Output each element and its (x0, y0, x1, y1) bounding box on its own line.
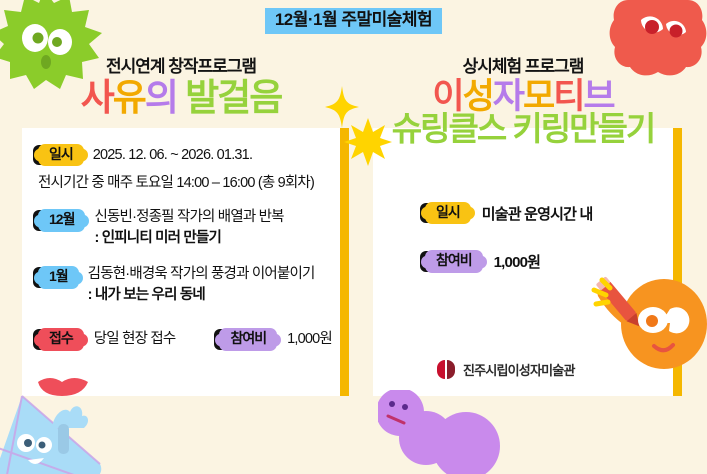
purple-caterpillar-character-icon (378, 390, 518, 474)
apply-badge: 접수 (38, 328, 84, 350)
left-title-char-4: 발걸음 (177, 77, 281, 118)
apply-value: 당일 현장 접수 (94, 330, 176, 350)
session-jan-line2: : 내가 보는 우리 동네 (88, 287, 205, 303)
right-date-badge: 일시 (425, 202, 471, 224)
museum-logo: 진주시립이성자미술관 (437, 360, 575, 379)
blue-triangle-character-icon (0, 388, 110, 474)
left-date-row: 일시 2025. 12. 06. ~ 2026. 01.31. (38, 144, 340, 166)
right-fee-row: 참여비 1,000원 (425, 250, 673, 272)
session-row-december: 12월 신동빈·정종필 작가의 배열과 반복 : 인피니티 미러 만들기 (38, 207, 340, 249)
session-text-january: 김동현·배경욱 작가의 풍경과 이어붙이기 : 내가 보는 우리 동네 (88, 264, 315, 306)
poster-canvas: 12월·1월 주말미술체험 전시연계 창작프로그램 사유의 발걸음 상시체험 프… (0, 0, 707, 474)
left-date-badge: 일시 (38, 144, 84, 166)
top-banner: 12월·1월 주말미술체험 (0, 8, 707, 34)
left-title: 사유의 발걸음 (22, 79, 340, 117)
museum-logo-mark-icon (437, 360, 456, 379)
right-subtitle: 상시체험 프로그램 (373, 58, 673, 77)
left-fee-value: 1,000원 (287, 330, 332, 350)
left-program-card: 일시 2025. 12. 06. ~ 2026. 01.31. 전시기간 중 매… (22, 128, 349, 396)
right-fee-value: 1,000원 (494, 251, 541, 272)
left-program-heading: 전시연계 창작프로그램 사유의 발걸음 (22, 58, 340, 116)
right-title: 이성자모티브 (373, 79, 673, 115)
left-title-char-3: 의 (145, 77, 177, 118)
session-badge-january: 1월 (38, 266, 79, 288)
session-badge-december: 12월 (38, 209, 85, 231)
right-date-row: 일시 미술관 운영시간 내 (425, 202, 673, 224)
session-jan-line1: 김동현·배경욱 작가의 풍경과 이어붙이기 (88, 266, 315, 282)
left-date-note: 전시기간 중 매주 토요일 14:00 – 16:00 (총 9회차) (38, 171, 340, 192)
left-subtitle: 전시연계 창작프로그램 (22, 58, 340, 77)
left-fee-badge: 참여비 (219, 328, 277, 350)
right-program-heading: 상시체험 프로그램 이성자모티브 슈링클스 키링만들기 (373, 58, 673, 146)
right-fee-badge: 참여비 (425, 250, 483, 272)
left-bottom-row: 접수 당일 현장 접수 참여비 1,000원 (38, 328, 340, 350)
banner-text: 12월·1월 주말미술체험 (265, 8, 442, 34)
session-row-january: 1월 김동현·배경욱 작가의 풍경과 이어붙이기 : 내가 보는 우리 동네 (38, 264, 340, 306)
right-date-value: 미술관 운영시간 내 (482, 203, 593, 224)
session-dec-line2: : 인피니티 미러 만들기 (94, 230, 221, 246)
session-dec-line1: 신동빈·정종필 작가의 배열과 반복 (94, 209, 283, 225)
right-title-line2: 슈링클스 키링만들기 (373, 112, 673, 146)
left-title-char-2: 유 (113, 77, 145, 118)
left-date-value: 2025. 12. 06. ~ 2026. 01.31. (93, 144, 252, 166)
left-title-char-1: 사 (81, 77, 113, 118)
session-text-december: 신동빈·정종필 작가의 배열과 반복 : 인피니티 미러 만들기 (94, 207, 283, 249)
right-program-card: 일시 미술관 운영시간 내 참여비 1,000원 진주시립이성자미술관 (373, 128, 682, 396)
museum-logo-text: 진주시립이성자미술관 (463, 360, 575, 379)
